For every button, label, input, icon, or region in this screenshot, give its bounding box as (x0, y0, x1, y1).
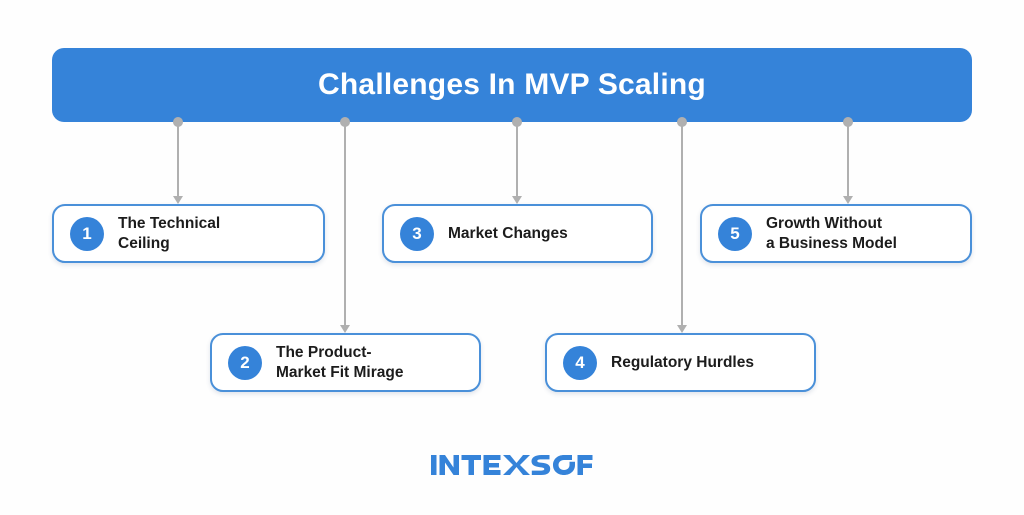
connector-line-1 (171, 117, 185, 207)
challenge-card-1[interactable]: 1 The Technical Ceiling (52, 204, 325, 263)
connector-arrow-icon (340, 325, 350, 333)
connector-line-5 (841, 117, 855, 207)
challenge-card-5[interactable]: 5 Growth Without a Business Model (700, 204, 972, 263)
connector-stem (681, 122, 683, 325)
challenge-label: Market Changes (448, 224, 568, 244)
challenge-number-badge: 3 (400, 217, 434, 251)
challenge-label: The Technical Ceiling (118, 214, 220, 254)
connector-arrow-icon (173, 196, 183, 204)
connector-arrow-icon (677, 325, 687, 333)
challenge-number-badge: 2 (228, 346, 262, 380)
page-title: Challenges In MVP Scaling (318, 70, 706, 100)
challenge-label: Regulatory Hurdles (611, 353, 754, 373)
challenge-card-3[interactable]: 3 Market Changes (382, 204, 653, 263)
connector-line-3 (510, 117, 524, 207)
challenge-number-badge: 5 (718, 217, 752, 251)
challenge-label: The Product- Market Fit Mirage (276, 343, 403, 383)
connector-line-2 (338, 117, 352, 336)
challenge-number-badge: 4 (563, 346, 597, 380)
connector-line-4 (675, 117, 689, 336)
challenge-card-4[interactable]: 4 Regulatory Hurdles (545, 333, 816, 392)
infographic-canvas: Challenges In MVP Scaling 1 The Technica… (0, 0, 1024, 515)
challenge-label: Growth Without a Business Model (766, 214, 897, 254)
connector-stem (177, 122, 179, 196)
connector-arrow-icon (512, 196, 522, 204)
connector-stem (516, 122, 518, 196)
challenge-number-badge: 1 (70, 217, 104, 251)
brand-logo (0, 452, 1024, 478)
connector-arrow-icon (843, 196, 853, 204)
intexsoft-logo-icon (431, 452, 593, 478)
header-banner: Challenges In MVP Scaling (52, 48, 972, 122)
challenge-card-2[interactable]: 2 The Product- Market Fit Mirage (210, 333, 481, 392)
connector-stem (847, 122, 849, 196)
connector-stem (344, 122, 346, 325)
